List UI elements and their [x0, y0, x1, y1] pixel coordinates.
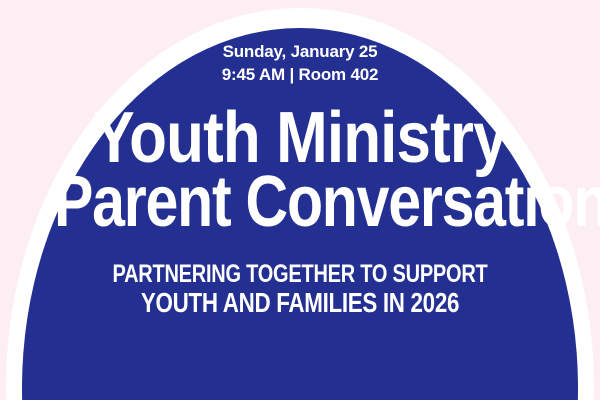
event-poster: Sunday, January 25 9:45 AM | Room 402 Yo… — [0, 0, 600, 400]
event-time-location: 9:45 AM | Room 402 — [0, 63, 600, 86]
event-meta-block: Sunday, January 25 9:45 AM | Room 402 — [0, 40, 600, 86]
poster-subtitle: PARTNERING TOGETHER TO SUPPORT YOUTH AND… — [0, 262, 600, 317]
poster-title-line-1: Youth Ministry — [42, 108, 558, 170]
poster-subtitle-line-1: PARTNERING TOGETHER TO SUPPORT — [60, 262, 540, 288]
poster-title: Youth Ministry Parent Conversation — [0, 108, 600, 234]
poster-title-line-2: Parent Conversation — [54, 172, 546, 234]
poster-subtitle-line-2: YOUTH AND FAMILIES IN 2026 — [60, 289, 540, 318]
poster-content: Sunday, January 25 9:45 AM | Room 402 Yo… — [0, 0, 600, 400]
event-date: Sunday, January 25 — [0, 40, 600, 63]
